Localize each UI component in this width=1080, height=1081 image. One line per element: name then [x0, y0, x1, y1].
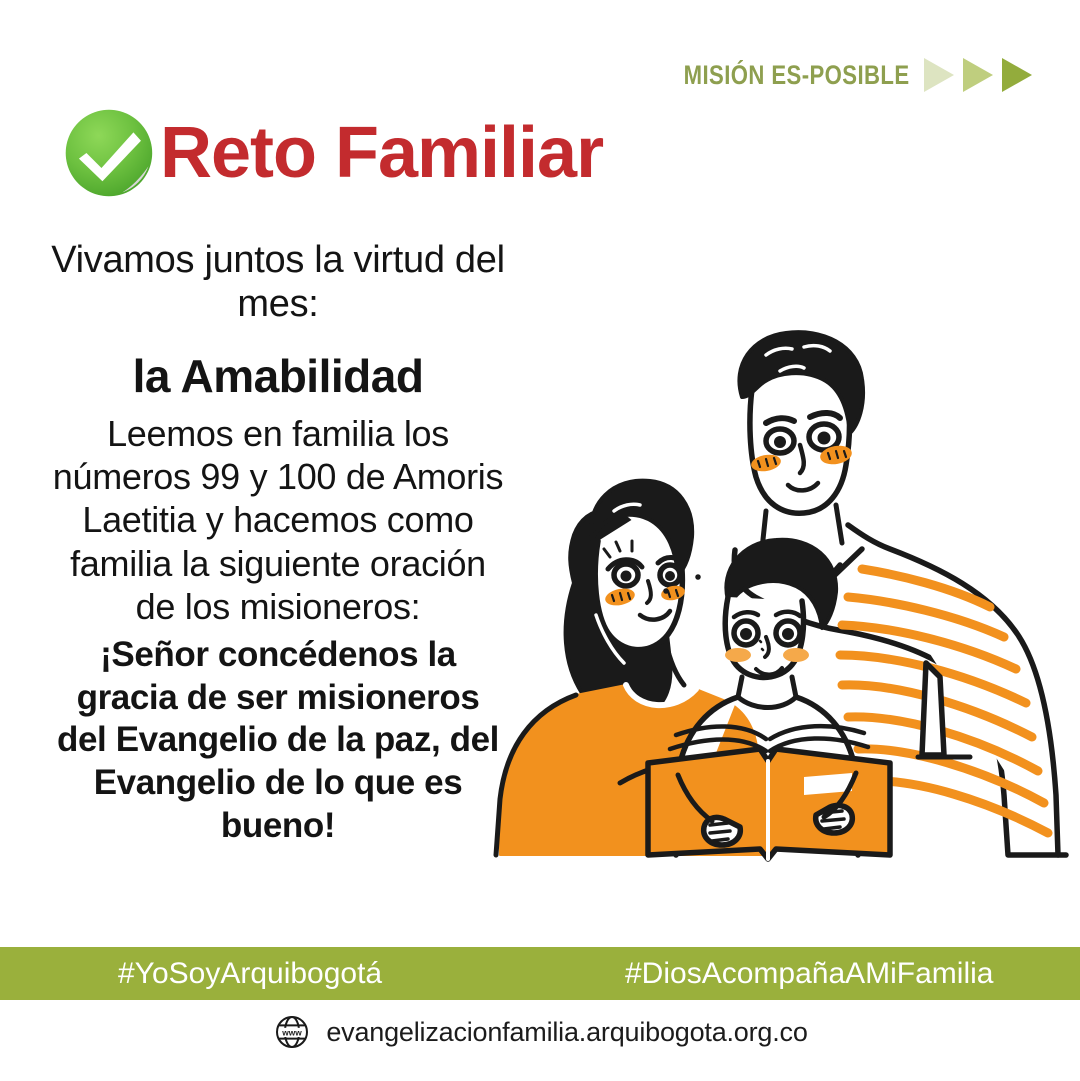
virtue-title: la Amabilidad: [48, 349, 508, 404]
brand-text: MISIÓN ES-POSIBLE: [684, 60, 910, 91]
family-reading-illustration: [470, 325, 1080, 870]
brand-line: MISIÓN ES-POSIBLE: [634, 58, 1032, 92]
arrow-medium-icon: [963, 58, 993, 92]
message-column: Vivamos juntos la virtud del mes: la Ama…: [48, 238, 508, 847]
hashtag-yosoyarquibogota: #YoSoyArquibogotá: [118, 957, 382, 991]
check-circle-sticker-icon: [62, 106, 156, 200]
poster-canvas: MISIÓN ES-POSIBLE: [0, 0, 1080, 1081]
svg-text:www: www: [282, 1027, 303, 1037]
arrow-dark-icon: [1002, 58, 1032, 92]
logo-row: Reto Familiar: [62, 106, 603, 200]
arrow-group: [924, 58, 1032, 92]
body-text: Leemos en familia los números 99 y 100 d…: [48, 412, 508, 628]
page-title: Reto Familiar: [160, 117, 603, 189]
hashtag-band: #YoSoyArquibogotá #DiosAcompañaAMiFamili…: [0, 947, 1080, 1000]
arrow-light-icon: [924, 58, 954, 92]
lead-text: Vivamos juntos la virtud del mes:: [48, 238, 508, 327]
hashtag-diosacompanaamifamilia: #DiosAcompañaAMiFamilia: [625, 957, 993, 991]
website-row: www evangelizacionfamilia.arquibogota.or…: [0, 1012, 1080, 1052]
globe-www-icon: www: [272, 1012, 312, 1052]
website-url[interactable]: evangelizacionfamilia.arquibogota.org.co: [326, 1017, 807, 1048]
prayer-text: ¡Señor concédenos la gracia de ser misio…: [48, 634, 508, 847]
